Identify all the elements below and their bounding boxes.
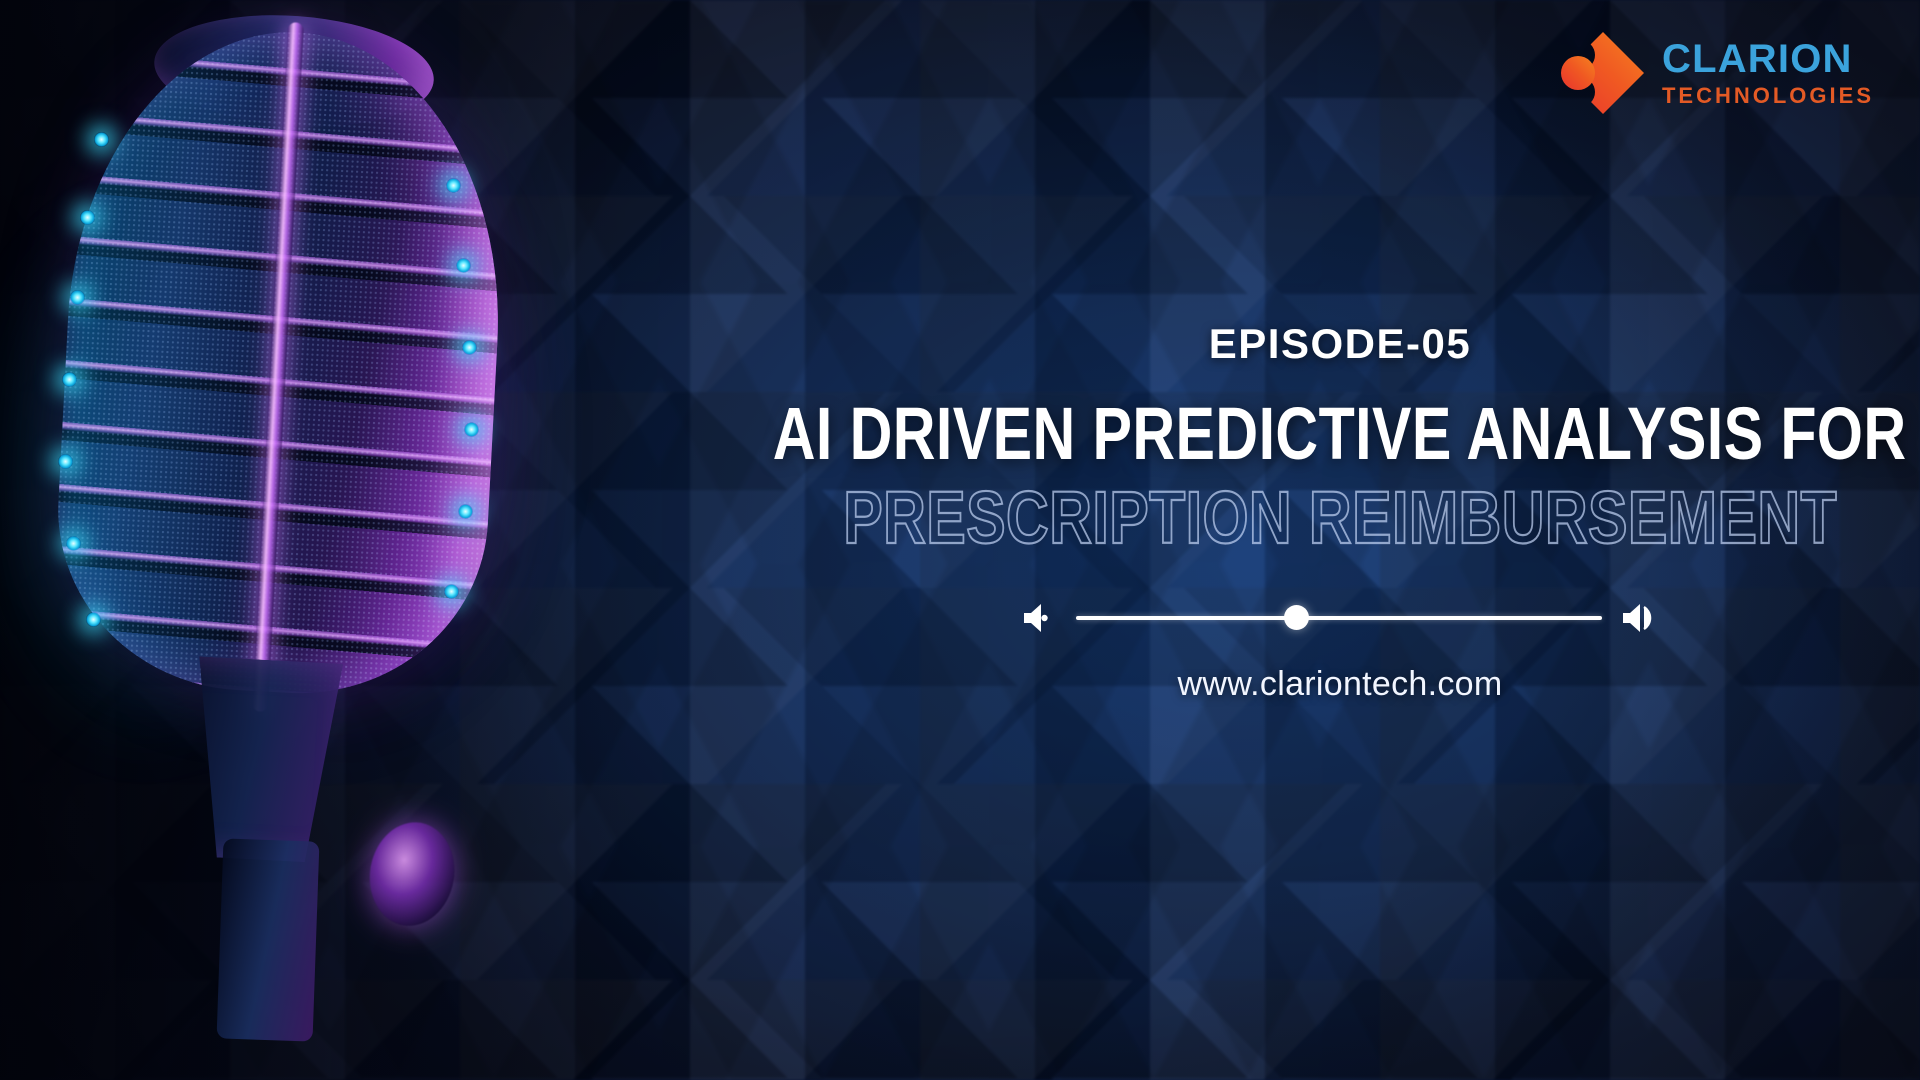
progress-slider[interactable] bbox=[1076, 606, 1602, 630]
podcast-episode-cover: CLARION TECHNOLOGIES EPISODE-05 AI DRIVE… bbox=[0, 0, 1920, 1080]
speaker-high-icon[interactable] bbox=[1620, 599, 1660, 637]
progress-track[interactable] bbox=[1076, 616, 1602, 620]
speaker-low-icon[interactable] bbox=[1020, 599, 1058, 637]
episode-title-line-2: PRESCRIPTION REIMBURSEMENT bbox=[843, 479, 1837, 557]
audio-player[interactable] bbox=[1020, 599, 1660, 637]
episode-content: EPISODE-05 AI DRIVEN PREDICTIVE ANALYSIS… bbox=[760, 0, 1920, 1080]
episode-number-label: EPISODE-05 bbox=[1209, 320, 1471, 368]
episode-title-line-1: AI DRIVEN PREDICTIVE ANALYSIS FOR bbox=[773, 398, 1907, 469]
progress-knob[interactable] bbox=[1284, 605, 1309, 630]
website-url[interactable]: www.clariontech.com bbox=[1177, 665, 1502, 704]
